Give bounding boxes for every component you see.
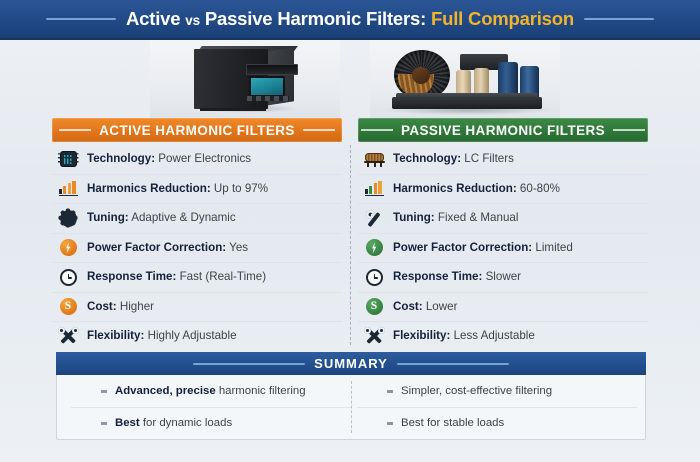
bar-chart-icon bbox=[364, 179, 384, 199]
dollar-icon: S bbox=[58, 297, 78, 317]
summary-bold: Best bbox=[115, 417, 140, 429]
tools-icon bbox=[58, 326, 78, 346]
row-value: Up to 97% bbox=[214, 182, 268, 195]
row-label: Harmonics Reduction: bbox=[87, 182, 211, 195]
list-item: Best for dynamic loads bbox=[71, 408, 351, 439]
active-column: Technology: Power Electronics Harmonics … bbox=[52, 145, 342, 351]
table-row: S Cost: Lower bbox=[358, 293, 648, 323]
cabinet-buttons bbox=[247, 96, 289, 101]
table-row: Harmonics Reduction: Up to 97% bbox=[52, 175, 342, 205]
row-value: Less Adjustable bbox=[454, 329, 535, 342]
summary-bold: Advanced, precise bbox=[115, 385, 216, 397]
infographic-page: Active vs Passive Harmonic Filters: Full… bbox=[0, 0, 700, 462]
summary-rest: Best for stable loads bbox=[401, 417, 504, 429]
title-accent: Full Comparison bbox=[431, 8, 574, 29]
heading-rule-left bbox=[361, 129, 393, 131]
row-label: Response Time: bbox=[87, 270, 176, 283]
clock-icon bbox=[364, 267, 384, 287]
bar-chart-icon bbox=[58, 179, 78, 199]
row-label: Response Time: bbox=[393, 270, 482, 283]
row-label: Harmonics Reduction: bbox=[393, 182, 517, 195]
page-title: Active vs Passive Harmonic Filters: Full… bbox=[126, 8, 574, 30]
summary-rule-right bbox=[397, 363, 509, 365]
table-row: Power Factor Correction: Yes bbox=[52, 234, 342, 264]
row-label: Technology: bbox=[87, 152, 155, 165]
table-row: Technology: LC Filters bbox=[358, 145, 648, 175]
clock-icon bbox=[58, 267, 78, 287]
summary-divider bbox=[351, 381, 352, 433]
title-part-1: Active bbox=[126, 8, 185, 29]
active-filter-photo bbox=[150, 40, 340, 118]
table-row: Flexibility: Less Adjustable bbox=[358, 322, 648, 351]
table-row: Technology: Power Electronics bbox=[52, 145, 342, 175]
bullet-dash-icon bbox=[387, 422, 393, 425]
summary-heading-label: SUMMARY bbox=[314, 356, 388, 371]
assembly-base bbox=[392, 97, 542, 109]
summary-passive-column: Simpler, cost-effective filtering Best f… bbox=[357, 376, 637, 439]
row-value: Yes bbox=[229, 241, 248, 254]
list-item: Advanced, precise harmonic filtering bbox=[71, 376, 351, 408]
passive-heading-label: PASSIVE HARMONIC FILTERS bbox=[401, 123, 605, 138]
row-label: Tuning: bbox=[87, 211, 129, 224]
bullet-dash-icon bbox=[101, 390, 107, 393]
row-value: Highly Adjustable bbox=[148, 329, 237, 342]
summary-panel: SUMMARY Advanced, precise harmonic filte… bbox=[56, 352, 646, 440]
row-label: Power Factor Correction: bbox=[393, 241, 532, 254]
row-value: Fast (Real-Time) bbox=[180, 270, 267, 283]
inductor-coil-icon bbox=[364, 149, 384, 169]
chip-icon bbox=[58, 149, 78, 169]
table-row: Tuning: Fixed & Manual bbox=[358, 204, 648, 234]
row-value: Fixed & Manual bbox=[438, 211, 519, 224]
title-part-2: Passive Harmonic Filters: bbox=[200, 8, 431, 29]
list-item: Best for stable loads bbox=[357, 408, 637, 439]
header-rule-right bbox=[584, 18, 654, 20]
table-row: Harmonics Reduction: 60-80% bbox=[358, 175, 648, 205]
page-header: Active vs Passive Harmonic Filters: Full… bbox=[0, 0, 700, 40]
toroid-core-hole bbox=[412, 67, 430, 84]
summary-rule-left bbox=[193, 363, 305, 365]
row-value: Power Electronics bbox=[158, 152, 251, 165]
row-value: Limited bbox=[535, 241, 572, 254]
table-row: Tuning: Adaptive & Dynamic bbox=[52, 204, 342, 234]
summary-active-column: Advanced, precise harmonic filtering Bes… bbox=[71, 376, 351, 439]
header-rule-left bbox=[46, 18, 116, 20]
row-label: Flexibility: bbox=[393, 329, 450, 342]
summary-rest: Simpler, cost-effective filtering bbox=[401, 385, 552, 397]
title-vs: vs bbox=[185, 13, 200, 28]
lightning-bolt-icon bbox=[364, 238, 384, 258]
cabinet-body bbox=[194, 49, 268, 109]
cabinet-display bbox=[249, 76, 285, 97]
passive-filter-photo bbox=[370, 40, 560, 118]
heading-rule-right bbox=[613, 129, 645, 131]
column-divider bbox=[350, 145, 351, 345]
row-label: Technology: bbox=[393, 152, 461, 165]
heading-rule-right bbox=[303, 129, 335, 131]
cabinet-vent bbox=[246, 64, 298, 75]
active-column-heading: ACTIVE HARMONIC FILTERS bbox=[52, 118, 342, 142]
row-value: Slower bbox=[486, 270, 521, 283]
summary-body: Advanced, precise harmonic filtering Bes… bbox=[57, 376, 645, 438]
row-value: Adaptive & Dynamic bbox=[131, 211, 235, 224]
table-row: Power Factor Correction: Limited bbox=[358, 234, 648, 264]
row-value: Higher bbox=[120, 300, 154, 313]
bullet-dash-icon bbox=[387, 390, 393, 393]
row-value: 60-80% bbox=[520, 182, 560, 195]
comparison-table: Technology: Power Electronics Harmonics … bbox=[52, 145, 648, 345]
row-value: LC Filters bbox=[464, 152, 514, 165]
summary-rest: for dynamic loads bbox=[140, 417, 232, 429]
dollar-icon: S bbox=[364, 297, 384, 317]
table-row: Flexibility: Highly Adjustable bbox=[52, 322, 342, 351]
lightning-bolt-icon bbox=[58, 238, 78, 258]
cabinet-foot bbox=[200, 108, 266, 111]
row-label: Flexibility: bbox=[87, 329, 144, 342]
row-label: Tuning: bbox=[393, 211, 435, 224]
row-label: Cost: bbox=[393, 300, 423, 313]
list-item: Simpler, cost-effective filtering bbox=[357, 376, 637, 408]
tools-icon bbox=[364, 326, 384, 346]
gear-icon bbox=[58, 208, 78, 228]
table-row: Response Time: Fast (Real-Time) bbox=[52, 263, 342, 293]
heading-rule-left bbox=[59, 129, 91, 131]
row-label: Cost: bbox=[87, 300, 117, 313]
active-heading-label: ACTIVE HARMONIC FILTERS bbox=[99, 123, 295, 138]
wrench-icon bbox=[364, 208, 384, 228]
bullet-dash-icon bbox=[101, 422, 107, 425]
table-row: S Cost: Higher bbox=[52, 293, 342, 323]
product-photos bbox=[0, 40, 700, 118]
table-row: Response Time: Slower bbox=[358, 263, 648, 293]
summary-header: SUMMARY bbox=[56, 352, 646, 375]
passive-column-heading: PASSIVE HARMONIC FILTERS bbox=[358, 118, 648, 142]
passive-column: Technology: LC Filters Harmonics Reducti… bbox=[358, 145, 648, 351]
summary-rest: harmonic filtering bbox=[216, 385, 306, 397]
row-label: Power Factor Correction: bbox=[87, 241, 226, 254]
row-value: Lower bbox=[426, 300, 458, 313]
